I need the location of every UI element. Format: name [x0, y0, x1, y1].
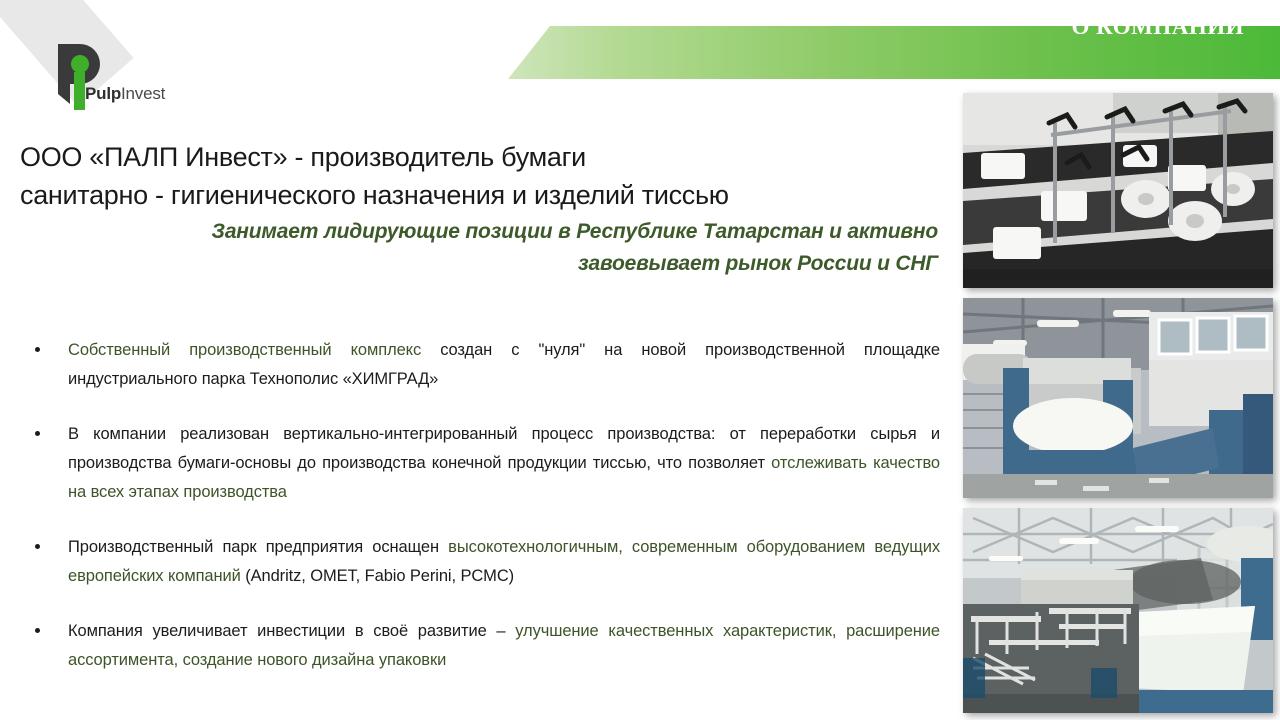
page-subtitle-line-2: завоевывает рынок России и СНГ [20, 248, 938, 280]
photo-conveyor-rolls [963, 93, 1273, 288]
list-item: В компании реализован вертикально-интегр… [28, 420, 940, 507]
page-title-line-2: санитарно - гигиенического назначения и … [20, 176, 950, 214]
logo-wordmark: PulpInvest [85, 84, 165, 104]
page-subtitle-line-1: Занимает лидирующие позиции в Республике… [20, 216, 938, 248]
bullet-3-segment-1: Производственный парк предприятия оснаще… [68, 538, 448, 556]
logo-word-pulp: Pulp [85, 84, 121, 103]
list-item: Собственный производственный комплекс со… [28, 336, 940, 394]
logo-word-invest: Invest [121, 84, 165, 103]
bullet-dot-icon [35, 628, 40, 633]
page-title-line-1: ООО «ПАЛП Инвест» - производитель бумаги [20, 138, 950, 176]
bullet-1-segment-1: Собственный производственный комплекс [68, 341, 421, 359]
company-logo: PulpInvest [52, 38, 232, 110]
list-item: Производственный парк предприятия оснаще… [28, 533, 940, 591]
list-item: Компания увеличивает инвестиции в своё р… [28, 617, 940, 675]
page-subtitle: Занимает лидирующие позиции в Республике… [20, 216, 938, 280]
bullet-dot-icon [35, 544, 40, 549]
page-title: ООО «ПАЛП Инвест» - производитель бумаги… [20, 138, 950, 214]
photo-tissue-machine-hall [963, 508, 1273, 713]
bullet-dot-icon [35, 347, 40, 352]
photo-paper-machine [963, 298, 1273, 498]
bullet-3-segment-3: (Andritz, OMET, Fabio Perini, PCMC) [241, 567, 514, 585]
bullet-list: Собственный производственный комплекс со… [28, 336, 940, 675]
bullet-4-segment-1: Компания увеличивает инвестиции в своё р… [68, 622, 515, 640]
header-title: О КОМПАНИИ [1071, 0, 1244, 53]
bullet-dot-icon [35, 431, 40, 436]
